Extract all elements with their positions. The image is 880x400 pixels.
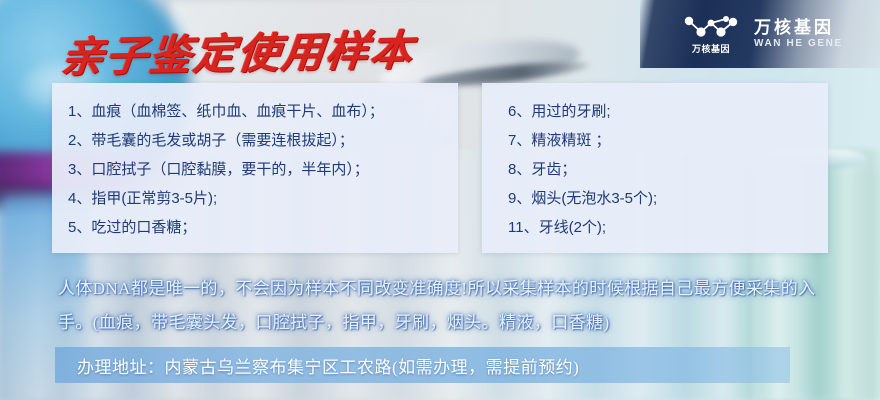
list-item: 9、烟头(无泡水3-5个);	[508, 184, 818, 213]
list-item: 3、口腔拭子（口腔黏膜，要干的，半年内）；	[68, 155, 448, 184]
molecule-node-icon	[682, 14, 740, 40]
sample-list-right-panel: 6、用过的牙刷; 7、精液精斑 ； 8、牙齿； 9、烟头(无泡水3-5个); 1…	[482, 83, 828, 253]
logo-wordmark: 万核基因 WAN HE GENE	[754, 19, 843, 49]
logo-name-en: WAN HE GENE	[754, 39, 843, 50]
logo-name-cn: 万核基因	[754, 19, 843, 37]
list-item: 11、牙线(2个);	[508, 213, 818, 242]
logo-mark-text: 万核基因	[692, 42, 730, 55]
list-item: 1、血痕（血棉签、纸巾血、血痕干片、血布）；	[68, 97, 448, 126]
sample-list-left: 1、血痕（血棉签、纸巾血、血痕干片、血布）； 2、带毛囊的毛发或胡子（需要连根拔…	[68, 97, 448, 242]
brand-logo-band: 万核基因 万核基因 WAN HE GENE	[640, 0, 880, 68]
sample-list-left-panel: 1、血痕（血棉签、纸巾血、血痕干片、血布）； 2、带毛囊的毛发或胡子（需要连根拔…	[52, 83, 458, 253]
page-title: 亲子鉴定使用样本	[58, 16, 417, 84]
poster-root: 万核基因 万核基因 WAN HE GENE 亲子鉴定使用样本 1、血痕（血棉签、…	[0, 0, 880, 400]
list-item: 4、指甲(正常剪3-5片);	[68, 184, 448, 213]
list-item: 5、吃过的口香糖；	[68, 213, 448, 242]
list-item: 2、带毛囊的毛发或胡子（需要连根拔起）；	[68, 126, 448, 155]
sample-list-right: 6、用过的牙刷; 7、精液精斑 ； 8、牙齿； 9、烟头(无泡水3-5个); 1…	[508, 97, 818, 242]
address-bar: 办理地址：内蒙古乌兰察布集宁区工农路(如需办理，需提前预约)	[55, 347, 790, 383]
list-item: 8、牙齿；	[508, 155, 818, 184]
logo-mark: 万核基因	[682, 14, 740, 55]
explanatory-note: 人体DNA都是唯一的，不会因为样本不同改变准确度!所以采集样本的时候根据自己最方…	[58, 272, 848, 340]
address-text: 办理地址：内蒙古乌兰察布集宁区工农路(如需办理，需提前预约)	[77, 353, 579, 378]
list-item: 6、用过的牙刷;	[508, 97, 818, 126]
list-item: 7、精液精斑 ；	[508, 126, 818, 155]
